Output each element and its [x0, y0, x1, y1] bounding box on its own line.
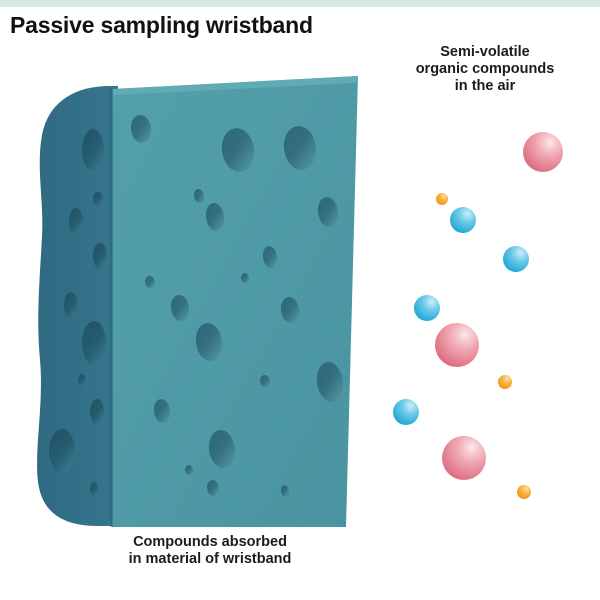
- molecule-orange-1: [436, 193, 448, 205]
- air-compounds-caption: Semi-volatile organic compounds in the a…: [380, 44, 590, 95]
- air-caption-line-2: organic compounds: [380, 61, 590, 78]
- illustration-canvas: Passive sampling wristband: [0, 0, 600, 600]
- molecule-pink-3: [442, 436, 486, 480]
- molecule-pink-1: [523, 132, 563, 172]
- absorbed-compounds-caption: Compounds absorbed in material of wristb…: [95, 534, 325, 568]
- air-caption-line-3: in the air: [380, 78, 590, 95]
- air-caption-line-1: Semi-volatile: [380, 44, 590, 61]
- molecule-blue-2: [503, 246, 529, 272]
- molecule-orange-3: [517, 485, 531, 499]
- molecule-blue-3: [414, 295, 440, 321]
- molecule-pink-2: [435, 323, 479, 367]
- molecule-blue-4: [393, 399, 419, 425]
- molecule-orange-2: [498, 375, 512, 389]
- absorbed-caption-line-1: Compounds absorbed: [95, 534, 325, 551]
- molecule-blue-1: [450, 207, 476, 233]
- absorbed-caption-line-2: in material of wristband: [95, 551, 325, 568]
